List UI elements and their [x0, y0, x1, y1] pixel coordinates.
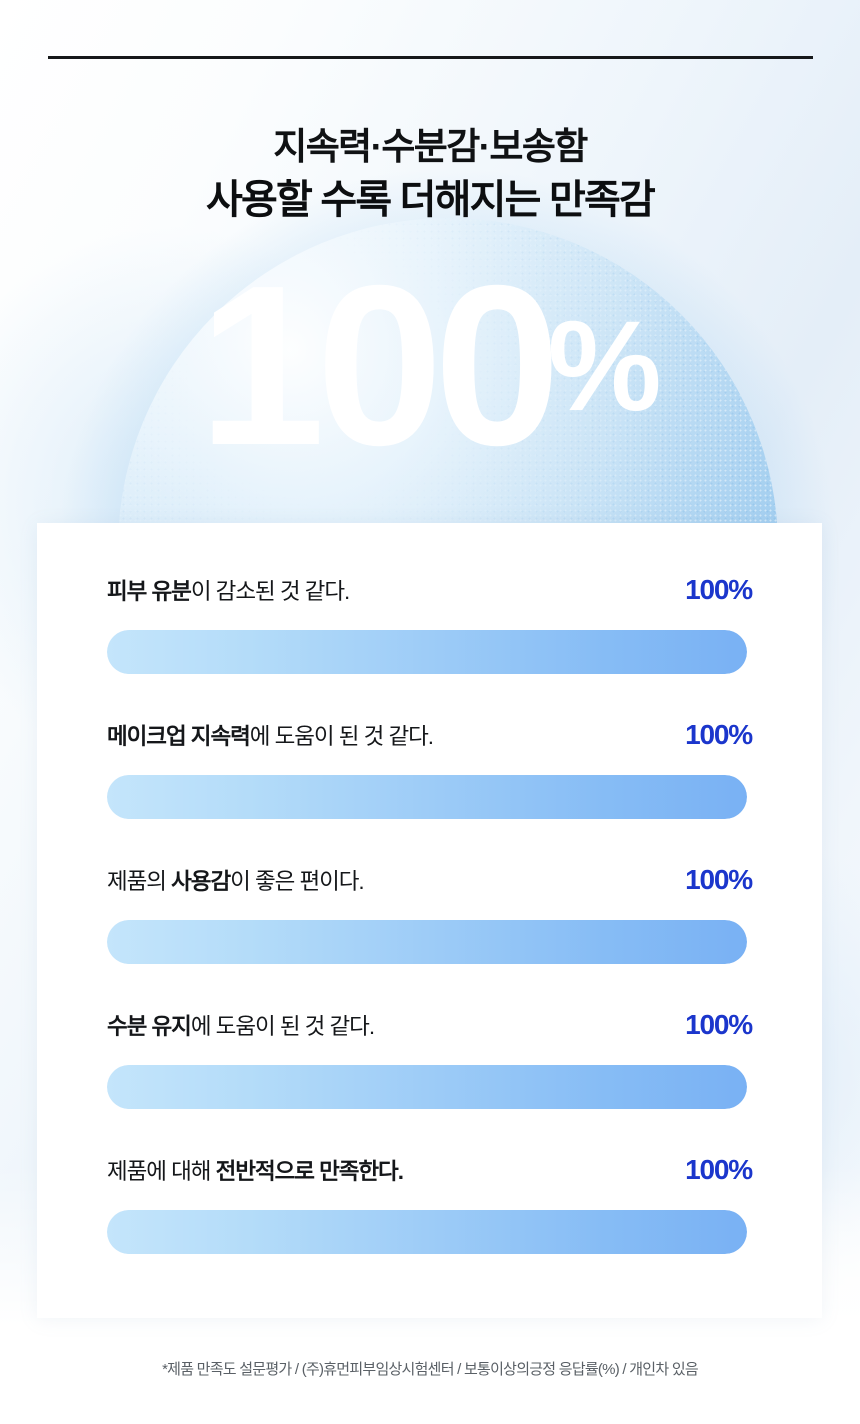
survey-row-label-lead: 제품의	[107, 869, 171, 894]
survey-row-label: 피부 유분이 감소된 것 같다.	[107, 578, 349, 606]
survey-row-label-emphasis: 수분 유지	[107, 1014, 191, 1039]
survey-row-label: 제품에 대해 전반적으로 만족한다.	[107, 1158, 403, 1186]
survey-results-list: 피부 유분이 감소된 것 같다. 100% 메이크업 지속력에 도움이 된 것 …	[107, 576, 752, 1288]
survey-row: 메이크업 지속력에 도움이 된 것 같다. 100%	[107, 721, 752, 866]
hero-stat-percent-symbol: %	[548, 295, 658, 438]
survey-row-value: 100%	[671, 721, 752, 749]
hero-stat-number: 100	[198, 239, 551, 493]
survey-row-bar-fill	[107, 1210, 747, 1254]
survey-row-header: 수분 유지에 도움이 된 것 같다. 100%	[107, 1011, 752, 1049]
survey-row-header: 메이크업 지속력에 도움이 된 것 같다. 100%	[107, 721, 752, 759]
survey-row-bar-track	[107, 1210, 747, 1254]
survey-row-value: 100%	[671, 576, 752, 604]
survey-row: 피부 유분이 감소된 것 같다. 100%	[107, 576, 752, 721]
survey-row-header: 피부 유분이 감소된 것 같다. 100%	[107, 576, 752, 614]
survey-row-bar-track	[107, 1065, 747, 1109]
survey-row: 제품에 대해 전반적으로 만족한다. 100%	[107, 1156, 752, 1288]
hero-stat-100-percent: 100%	[0, 252, 860, 480]
survey-results-card: 피부 유분이 감소된 것 같다. 100% 메이크업 지속력에 도움이 된 것 …	[37, 523, 822, 1318]
survey-row: 수분 유지에 도움이 된 것 같다. 100%	[107, 1011, 752, 1156]
survey-row: 제품의 사용감이 좋은 편이다. 100%	[107, 866, 752, 1011]
footnote-disclaimer: *제품 만족도 설문평가 / (주)휴먼피부임상시험센터 / 보통이상의긍정 응…	[0, 1358, 860, 1379]
survey-row-label-emphasis: 피부 유분	[107, 579, 191, 604]
survey-row-label-rest: 에 도움이 된 것 같다.	[191, 1014, 374, 1039]
survey-row-header: 제품에 대해 전반적으로 만족한다. 100%	[107, 1156, 752, 1194]
top-divider-rule	[48, 56, 813, 59]
survey-row-label: 메이크업 지속력에 도움이 된 것 같다.	[107, 723, 433, 751]
survey-row-bar-track	[107, 775, 747, 819]
survey-row-label-lead: 제품에 대해	[107, 1159, 216, 1184]
survey-row-bar-fill	[107, 920, 747, 964]
heading-block: 지속력·수분감·보송함 사용할 수록 더해지는 만족감	[0, 126, 860, 223]
survey-row-bar-fill	[107, 630, 747, 674]
heading-title: 사용할 수록 더해지는 만족감	[0, 177, 860, 223]
survey-row-label: 제품의 사용감이 좋은 편이다.	[107, 868, 364, 896]
survey-row-label-emphasis: 메이크업 지속력	[107, 724, 250, 749]
survey-row-label-rest: 에 도움이 된 것 같다.	[250, 724, 433, 749]
survey-row-value: 100%	[671, 1156, 752, 1184]
survey-row-label-emphasis: 사용감	[171, 869, 230, 894]
survey-row-bar-fill	[107, 775, 747, 819]
infographic-page: 지속력·수분감·보송함 사용할 수록 더해지는 만족감 100% 피부 유분이 …	[0, 0, 860, 1424]
survey-row-bar-fill	[107, 1065, 747, 1109]
survey-row-header: 제품의 사용감이 좋은 편이다. 100%	[107, 866, 752, 904]
survey-row-label-emphasis: 전반적으로 만족한다.	[216, 1159, 403, 1184]
survey-row-label: 수분 유지에 도움이 된 것 같다.	[107, 1013, 374, 1041]
survey-row-value: 100%	[671, 866, 752, 894]
heading-subtitle: 지속력·수분감·보송함	[0, 126, 860, 169]
survey-row-bar-track	[107, 630, 747, 674]
survey-row-label-rest: 이 좋은 편이다.	[230, 869, 364, 894]
survey-row-bar-track	[107, 920, 747, 964]
survey-row-value: 100%	[671, 1011, 752, 1039]
survey-row-label-rest: 이 감소된 것 같다.	[191, 579, 349, 604]
